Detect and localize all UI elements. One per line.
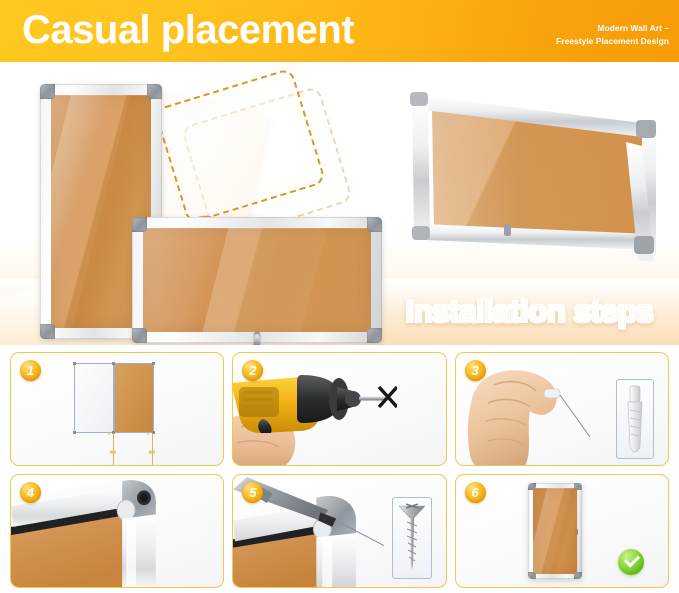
lock-icon [254,332,260,345]
frame-corner-closeup [11,475,223,587]
board-outline [74,363,154,433]
dimension-tick: ≂ [109,447,117,458]
wall-anchor [544,389,560,398]
hand [467,370,556,466]
step-badge: 1 [20,360,41,381]
corner-bracket [367,328,382,343]
callout-screw [392,497,432,579]
installation-title: Installation steps [406,294,654,330]
corkboard-half [114,363,154,433]
dimension-tick: ≂ [148,447,156,458]
step-panel-4: 4 [10,474,224,588]
step-panel-3: 3 [455,352,669,466]
cork-surface [533,488,577,574]
header-subtitle-line2: Freestyle Placement Design [439,35,669,48]
lock-icon [575,529,578,535]
step-panel-1: 1 ′ ′ ≂ ≂ [10,352,224,466]
success-checkmark-icon [618,549,644,575]
frame-left-rail [412,98,430,236]
glass-reflection [201,228,327,332]
corner-marker [73,431,76,434]
wall-anchor-diagram [617,380,653,458]
screw-head [399,506,425,518]
corner-marker [152,362,155,365]
step-badge: 3 [465,360,486,381]
dimension-tick: ′ [147,431,149,441]
step-panel-6: 6 [455,474,669,588]
corner-bracket [132,217,147,232]
corner-bracket [412,226,430,240]
dimension-tick: ′ [108,431,110,441]
whiteboard-half [74,363,114,433]
corner-bracket [40,324,55,339]
drill-bit [359,397,385,401]
corner-bracket [636,120,656,138]
header-banner: Casual placement Modern Wall Art – Frees… [0,0,679,62]
board-angled-open-view [398,84,664,276]
step-illustration-drive-screws [233,475,445,587]
step-illustration-insert-anchors [456,353,668,465]
step-panel-2: 2 [232,352,446,466]
corner-bracket [574,483,582,490]
header-subtitle: Modern Wall Art – Freestyle Placement De… [439,22,669,47]
corner-bracket [147,84,162,99]
callout-wall-anchor [616,379,654,459]
lock-icon [504,224,511,236]
corner-bracket [132,328,147,343]
screw-diagram [393,498,431,578]
corner-bracket [634,236,654,254]
step-illustration-finished-install [456,475,668,587]
mounted-board [528,483,582,579]
step-badge: 4 [20,482,41,503]
infographic-page: Casual placement Modern Wall Art – Frees… [0,0,679,593]
step-panel-5: 5 [232,474,446,588]
step-illustration-measure-and-mark: ′ ′ ≂ ≂ [11,353,223,465]
corner-bracket [528,483,536,490]
installation-steps-grid: 1 ′ ′ ≂ ≂ [10,352,669,588]
cork-surface [143,228,371,332]
step-badge: 6 [465,482,486,503]
page-title: Casual placement [22,6,354,54]
glass-overlay [143,228,371,332]
corner-bracket [367,217,382,232]
callout-leader-line [560,395,590,437]
corner-marker [112,362,115,365]
step-illustration-align-frame [11,475,223,587]
corner-bracket [410,92,428,106]
corner-bracket [40,84,55,99]
board-horizontal-orientation [132,217,382,343]
glass-reflection [51,95,135,328]
header-subtitle-line1: Modern Wall Art – [439,22,669,35]
corner-marker [73,362,76,365]
glass-reflection [533,488,574,574]
step-illustration-drill-holes [233,353,445,465]
